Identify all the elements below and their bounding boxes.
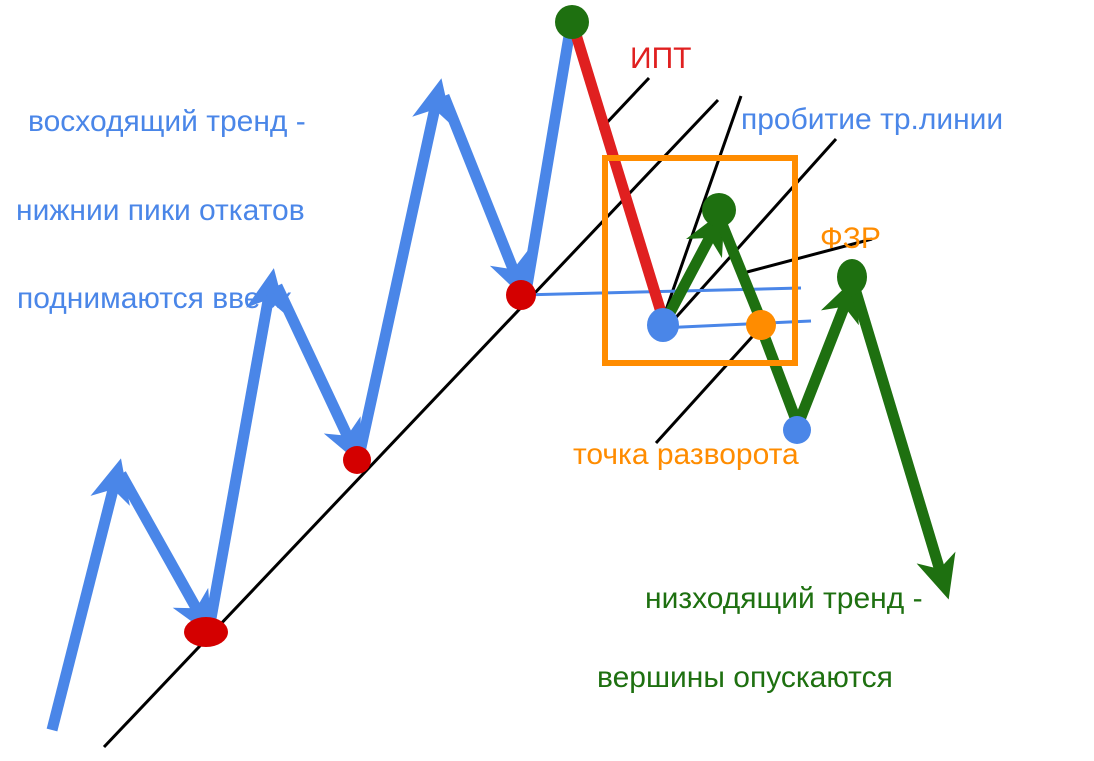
pivot-markers xyxy=(184,5,867,647)
downtrend-path-green xyxy=(665,224,944,584)
label-reversal-point: точка разворота xyxy=(573,440,799,470)
downtrend-leg-4 xyxy=(799,292,850,422)
label-fzr: ФЗР xyxy=(820,224,881,254)
uptrend-leg-1 xyxy=(52,474,117,730)
pullback-low-marker-2 xyxy=(343,446,371,474)
uptrend-leg-7 xyxy=(527,30,570,286)
reversal-leader-line xyxy=(656,327,761,443)
trend-high-marker xyxy=(555,5,589,39)
pullback-low-marker-1 xyxy=(184,617,228,647)
reversal-point-marker xyxy=(746,310,776,340)
lower-high-marker-1 xyxy=(702,193,736,227)
black-trendlines xyxy=(104,78,872,747)
break-low-marker xyxy=(647,308,679,342)
label-uptrend-line-1: восходящий тренд - xyxy=(28,107,306,137)
label-ipt: ИПТ xyxy=(630,44,691,74)
lower-high-marker-2 xyxy=(837,259,867,295)
label-uptrend-line-3: поднимаются вверх xyxy=(17,284,292,314)
uptrend-leg-5 xyxy=(360,94,438,452)
uptrend-leg-6 xyxy=(444,96,519,284)
pullback-low-marker-3 xyxy=(506,280,536,310)
diagram-canvas: восходящий тренд - нижнии пики откатов п… xyxy=(0,0,1094,761)
uptrend-leg-2 xyxy=(121,474,204,622)
label-downtrend-line-1: низходящий тренд - xyxy=(645,584,923,614)
downtrend-leg-5 xyxy=(856,292,944,584)
uptrend-leg-3 xyxy=(210,284,271,624)
label-downtrend-line-2: вершины опускаются xyxy=(597,663,893,693)
label-uptrend-line-2: нижнии пики откатов xyxy=(16,196,305,226)
label-break-of-trendline: пробитие тр.линии xyxy=(741,105,1003,135)
level-line-lower xyxy=(660,321,811,328)
downtrend-leg-3 xyxy=(762,330,796,420)
